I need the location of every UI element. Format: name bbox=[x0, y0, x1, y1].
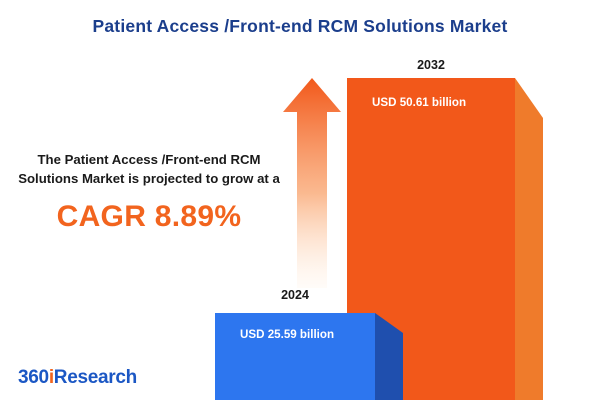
growth-arrow-icon bbox=[283, 78, 341, 288]
bar-2032-year-label: 2032 bbox=[347, 58, 515, 72]
infographic-canvas: Patient Access /Front-end RCM Solutions … bbox=[0, 0, 600, 400]
bar-2032-side bbox=[515, 118, 543, 400]
page-title: Patient Access /Front-end RCM Solutions … bbox=[0, 16, 600, 37]
brand-logo: 360iResearch bbox=[18, 367, 137, 389]
cagr-value: CAGR 8.89% bbox=[18, 200, 280, 234]
bar-2024-top-bevel bbox=[375, 313, 403, 333]
logo-prefix: 360 bbox=[18, 367, 49, 388]
bar-2024-value-label: USD 25.59 billion bbox=[240, 328, 334, 341]
logo-suffix: Research bbox=[54, 367, 137, 388]
growth-description: The Patient Access /Front-end RCM Soluti… bbox=[18, 150, 280, 188]
bar-2032-value-label: USD 50.61 billion bbox=[372, 96, 466, 109]
bar-2024-year-label: 2024 bbox=[215, 288, 375, 302]
bar-2024 bbox=[215, 313, 375, 400]
bar-2024-side bbox=[375, 333, 403, 400]
bar-2032-top-bevel bbox=[515, 78, 543, 118]
